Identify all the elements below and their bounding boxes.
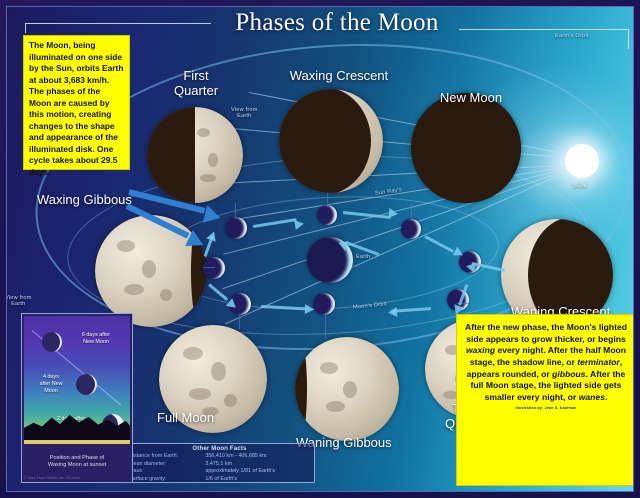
waxing-emphasis-terminator: terminator [577, 357, 620, 367]
diagram-moon-waxing-crescent [317, 205, 337, 225]
facts-table: Distance from Earth:356,410 km - 406,685… [129, 453, 310, 483]
waxing-emphasis-gibbous: gibbous [552, 369, 585, 379]
title-rule-left [25, 23, 211, 24]
waxing-line-5: . [605, 392, 607, 402]
facts-label: Mean diameter: [129, 461, 201, 469]
facts-label: Surface gravity: [129, 476, 201, 484]
facts-label: Distance from Earth: [129, 453, 201, 461]
diagram-moon-new-moon [401, 219, 421, 239]
poster-root: Phases of the Moon Earth's Orbit SUN Sun… [0, 0, 640, 498]
facts-row: Surface gravity:1/6 of Earth's [129, 476, 310, 484]
inset-caption: Position and Phase of Waxing Moon at sun… [22, 455, 132, 470]
view-from-earth-label: View from Earth [6, 295, 32, 308]
moon-first-quarter [147, 107, 243, 203]
facts-value: 1/6 of Earth's [201, 476, 310, 484]
waxing-explanation-box: After the new phase, the Moon's lighted … [456, 314, 634, 486]
facts-heading: Other Moon Facts [129, 446, 310, 452]
facts-value: approximately 1/81 of Earth's [201, 468, 310, 476]
waxing-moon-sunset-inset: 6 days after New Moon 4 days after New M… [21, 313, 133, 483]
inset-moon-6day [42, 332, 62, 352]
moon-waning-gibbous [295, 337, 399, 441]
facts-row: Distance from Earth:356,410 km - 406,685… [129, 453, 310, 461]
inset-moon-4day [76, 374, 97, 395]
title-rule-right [459, 29, 629, 30]
tether-line [203, 267, 215, 268]
waxing-line-1: After the new phase, the Moon's lighted … [465, 322, 627, 344]
view-from-earth-label: View from Earth [231, 107, 258, 120]
moon-waxing-gibbous [95, 215, 207, 327]
moon-dark-side [411, 93, 521, 203]
sun-graphic [565, 144, 599, 178]
label-new-moon: New Moon [426, 91, 516, 106]
inset-label-6day: 6 days after New Moon [66, 332, 126, 346]
tether-line [411, 203, 412, 221]
moon-dark-side [279, 89, 371, 193]
tether-line [327, 193, 328, 207]
moon-waxing-crescent [279, 89, 383, 193]
moon-new-moon [411, 93, 521, 203]
waxing-emphasis-wanes: wanes [579, 392, 605, 402]
diagram-moon-waxing-gibbous [203, 257, 225, 279]
moon-dark-side [147, 107, 195, 203]
illustrator-credit: Illustration by: Jean S. Kaufman [465, 406, 627, 411]
inset-label-4day: 4 days after New Moon [28, 374, 74, 395]
diagram-moon-first-quarter [225, 217, 247, 239]
label-waxing-gibbous: Waxing Gibbous [37, 193, 132, 208]
earth-label: Earth [356, 254, 370, 260]
title-rule-left-v [25, 23, 26, 33]
waxing-emphasis-waxing: waxing [466, 345, 495, 355]
title-rule-right-v [628, 29, 629, 49]
label-waxing-crescent: Waxing Crescent [279, 69, 399, 84]
tether-line [481, 261, 503, 262]
page-title: Phases of the Moon [212, 9, 462, 37]
facts-value: 356,410 km - 406,685 km [201, 453, 310, 461]
facts-row: Mean diameter:3,475.1 km [129, 461, 310, 469]
poster-inner-frame: Phases of the Moon Earth's Orbit SUN Sun… [6, 6, 634, 492]
tether-line [239, 315, 240, 329]
intro-text-box: The Moon, being illuminated on one side … [23, 35, 130, 170]
other-moon-facts-box: Other Moon Facts Distance from Earth:356… [124, 443, 315, 483]
inset-copyright: © Mark Twain Media, Inc. CD-1616 [24, 476, 80, 480]
facts-label: Mass: [129, 468, 201, 476]
tether-line [235, 203, 236, 219]
sun-label: SUN [573, 183, 586, 190]
label-first-quarter: First Quarter [161, 69, 231, 98]
label-full-moon: Full Moon [157, 411, 214, 426]
diagram-moon-waning-gibbous [313, 293, 335, 315]
earth-orbit-label: Earth's Orbit [555, 33, 589, 39]
facts-row: Mass:approximately 1/81 of Earth's [129, 468, 310, 476]
tether-line [325, 315, 326, 339]
facts-value: 3,475.1 km [201, 461, 310, 469]
